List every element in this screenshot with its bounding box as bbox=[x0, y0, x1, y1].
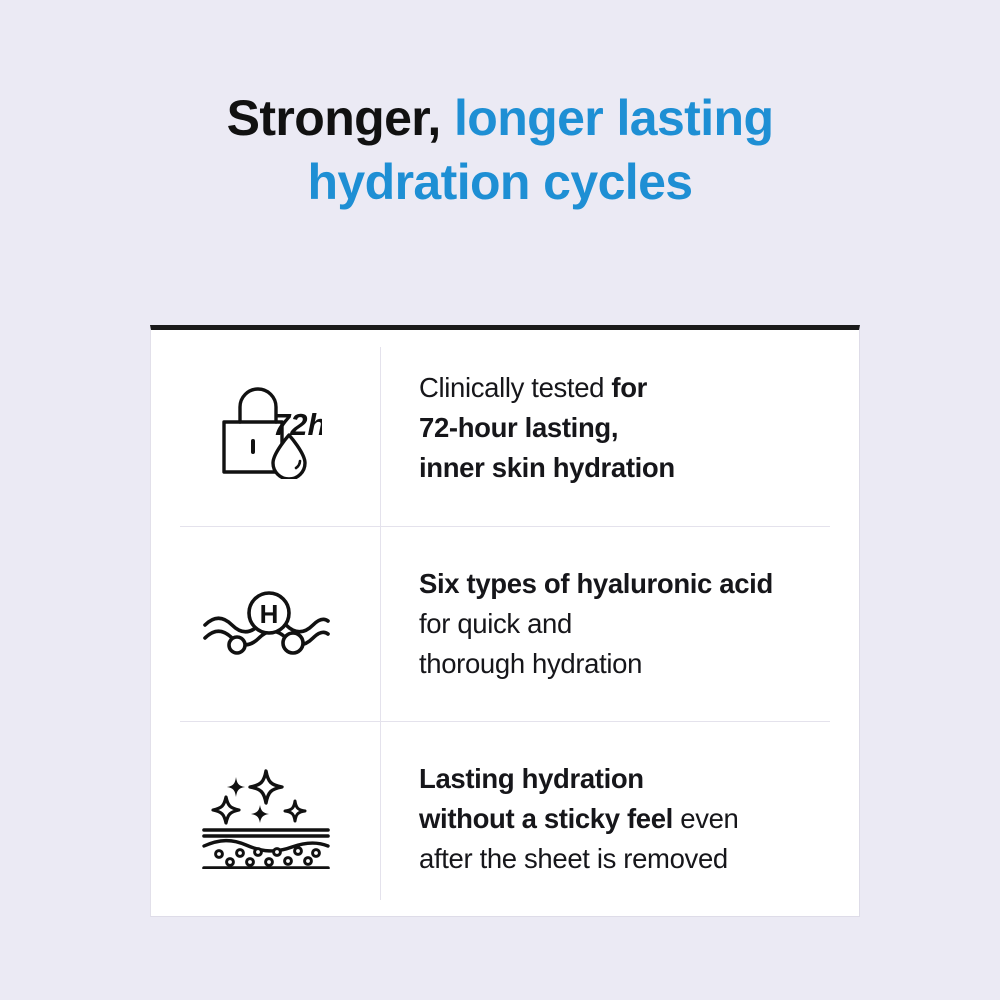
feature-1-line-1: Clinically tested for bbox=[419, 368, 845, 408]
text-cell-2: Six types of hyaluronic acid for quick a… bbox=[380, 564, 859, 684]
feature-2-line-2: for quick and bbox=[419, 604, 845, 644]
feature-1-line-2-bold: 72-hour lasting, bbox=[419, 412, 618, 443]
icon-cell-2: H bbox=[151, 583, 380, 665]
sparkling-skin-layer-icon bbox=[200, 769, 332, 869]
icon-cell-3 bbox=[151, 769, 380, 869]
headline-blue-text-1: longer lasting bbox=[454, 90, 773, 146]
headline-blue-text-2: hydration cycles bbox=[307, 154, 692, 210]
feature-3-line-2-regular: even bbox=[673, 803, 739, 834]
page-title: Stronger, longer lasting hydration cycle… bbox=[0, 86, 1000, 214]
feature-text-2: Six types of hyaluronic acid for quick a… bbox=[419, 564, 845, 684]
headline-line-2: hydration cycles bbox=[0, 150, 1000, 214]
sparkle-outline-right-icon bbox=[285, 801, 305, 821]
feature-1-line-2: 72-hour lasting, bbox=[419, 408, 845, 448]
feature-row-72h: 72h Clinically tested for 72-hour lastin… bbox=[151, 330, 859, 526]
feature-row-sticky-free: Lasting hydration without a sticky feel … bbox=[151, 721, 859, 917]
feature-3-line-2: without a sticky feel even bbox=[419, 799, 845, 839]
feature-1-line-1-regular: Clinically tested bbox=[419, 372, 611, 403]
lock-72h-droplet-icon: 72h bbox=[210, 377, 322, 479]
feature-3-line-3: after the sheet is removed bbox=[419, 839, 845, 879]
feature-2-line-3-regular: thorough hydration bbox=[419, 648, 642, 679]
hyaluronic-acid-wave-icon: H bbox=[201, 583, 331, 665]
feature-1-line-3: inner skin hydration bbox=[419, 448, 845, 488]
feature-3-line-1: Lasting hydration bbox=[419, 759, 845, 799]
feature-text-1: Clinically tested for 72-hour lasting, i… bbox=[419, 368, 845, 488]
feature-2-line-3: thorough hydration bbox=[419, 644, 845, 684]
text-cell-3: Lasting hydration without a sticky feel … bbox=[380, 759, 859, 879]
feature-text-3: Lasting hydration without a sticky feel … bbox=[419, 759, 845, 879]
feature-box: 72h Clinically tested for 72-hour lastin… bbox=[150, 325, 860, 917]
sparkle-large-icon bbox=[250, 771, 282, 803]
feature-2-line-2-regular: for quick and bbox=[419, 608, 572, 639]
feature-3-line-3-regular: after the sheet is removed bbox=[419, 843, 728, 874]
sparkle-medium-icon bbox=[227, 777, 245, 797]
sparkle-outline-left-icon bbox=[213, 797, 239, 823]
feature-2-line-1-bold: Six types of hyaluronic acid bbox=[419, 568, 773, 599]
feature-1-line-3-bold: inner skin hydration bbox=[419, 452, 675, 483]
headline-dark-text: Stronger, bbox=[227, 90, 441, 146]
feature-3-line-2-bold: without a sticky feel bbox=[419, 803, 673, 834]
hyaluronic-icon-label: H bbox=[259, 599, 278, 629]
lock-icon-label: 72h bbox=[273, 407, 322, 442]
headline-line-1: Stronger, longer lasting bbox=[0, 86, 1000, 150]
icon-cell-1: 72h bbox=[151, 377, 380, 479]
text-cell-1: Clinically tested for 72-hour lasting, i… bbox=[380, 368, 859, 488]
feature-row-hyaluronic: H Six types of hyaluronic acid for quick… bbox=[151, 526, 859, 722]
feature-3-line-1-bold: Lasting hydration bbox=[419, 763, 644, 794]
sparkle-small-icon bbox=[251, 805, 269, 823]
feature-1-line-1-bold: for bbox=[611, 372, 647, 403]
feature-rows: 72h Clinically tested for 72-hour lastin… bbox=[151, 330, 859, 917]
feature-2-line-1: Six types of hyaluronic acid bbox=[419, 564, 845, 604]
